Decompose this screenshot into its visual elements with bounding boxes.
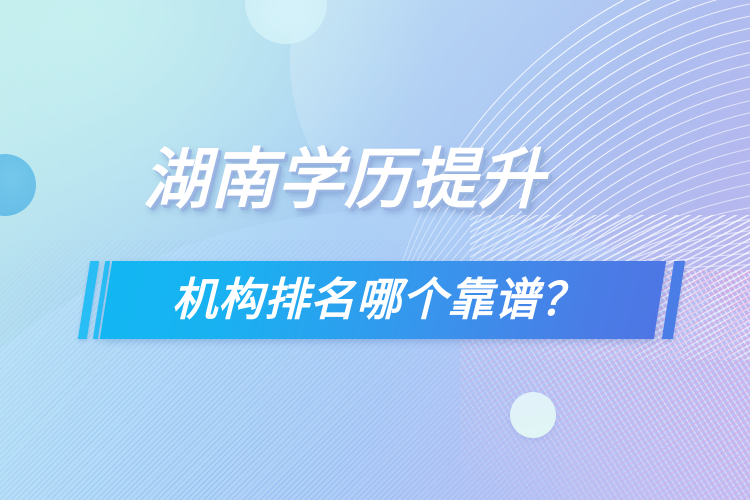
accent-bar-left-thick: [78, 261, 99, 339]
subheadline-text: 机构排名哪个靠谱？: [172, 277, 586, 322]
swoosh-highlight-bottom: [0, 210, 750, 500]
subheadline-banner-inner: 机构排名哪个靠谱？: [106, 261, 660, 339]
promo-banner: 湖南学历提升 机构排名哪个靠谱？: [0, 0, 750, 500]
headline-text: 湖南学历提升: [143, 146, 545, 212]
decorative-circle-left: [0, 154, 36, 216]
decorative-circle-bottom: [510, 392, 556, 438]
wave-lines-icon: [360, 0, 750, 270]
light-wash-bottom-right: [300, 200, 750, 500]
subheadline-banner: 机构排名哪个靠谱？: [100, 261, 666, 339]
decorative-circle-top: [245, 0, 327, 44]
accent-bar-right: [662, 261, 685, 339]
